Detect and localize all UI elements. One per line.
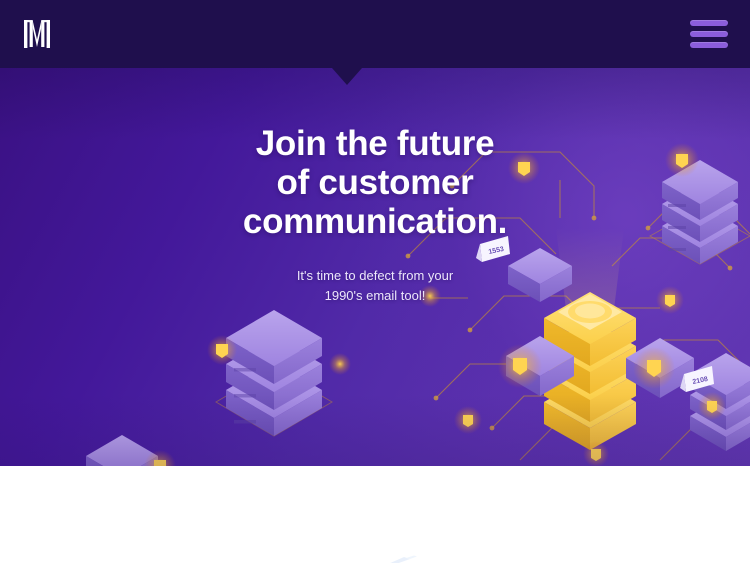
server-stack-right-middle [690, 353, 750, 466]
server-cube-left-low [86, 435, 176, 466]
server-cube-right-glow [626, 338, 694, 398]
hero-subheading-line-2: 1990's email tool! [325, 288, 426, 303]
gold-server-stack-center [544, 228, 636, 450]
hamburger-bar-bottom [690, 42, 728, 48]
message-card-1553-label: 1553 [488, 246, 505, 256]
hero-headline-line-2: of customer [276, 163, 473, 202]
landing-page: 1553 2108 Join the future of customer co… [0, 0, 750, 563]
navbar-inner [0, 0, 750, 68]
hero-subheading-line-1: It's time to defect from your [297, 268, 453, 283]
navbar-notch-arrow [332, 68, 362, 85]
hamburger-menu-button[interactable] [690, 20, 728, 48]
light-blue-chevron-graphic [386, 555, 420, 563]
hero-copy: Join the future of customer communicatio… [0, 68, 750, 466]
server-cube-mid-right [508, 248, 572, 302]
hero-subheading: It's time to defect from your 1990's ema… [297, 266, 453, 306]
server-cube-glow-right [498, 336, 574, 396]
server-stack-top-right [650, 143, 750, 264]
message-card-2108: 2108 [680, 366, 714, 392]
message-card-2108-label: 2108 [692, 376, 709, 386]
circuit-lines [408, 152, 750, 460]
hamburger-bar-top [690, 20, 728, 26]
glow-nodes [419, 152, 726, 466]
hero-headline: Join the future of customer communicatio… [243, 124, 507, 241]
circuit-nodes [406, 184, 733, 431]
message-card-1553: 1553 [476, 236, 510, 262]
hero-headline-line-1: Join the future [256, 124, 495, 163]
hero-vignette [0, 68, 750, 466]
hamburger-bar-middle [690, 31, 728, 37]
hero-headline-line-3: communication. [243, 202, 507, 241]
hero-right-glow [350, 68, 750, 466]
brand-logo-link[interactable] [22, 17, 52, 51]
hero-section: 1553 2108 Join the future of customer co… [0, 68, 750, 466]
isometric-server-network-illustration: 1553 2108 [0, 68, 750, 466]
server-stack-left-middle [207, 310, 351, 436]
mautic-m-logo-icon [22, 17, 52, 51]
below-fold-section [0, 466, 750, 563]
site-header [0, 0, 750, 68]
